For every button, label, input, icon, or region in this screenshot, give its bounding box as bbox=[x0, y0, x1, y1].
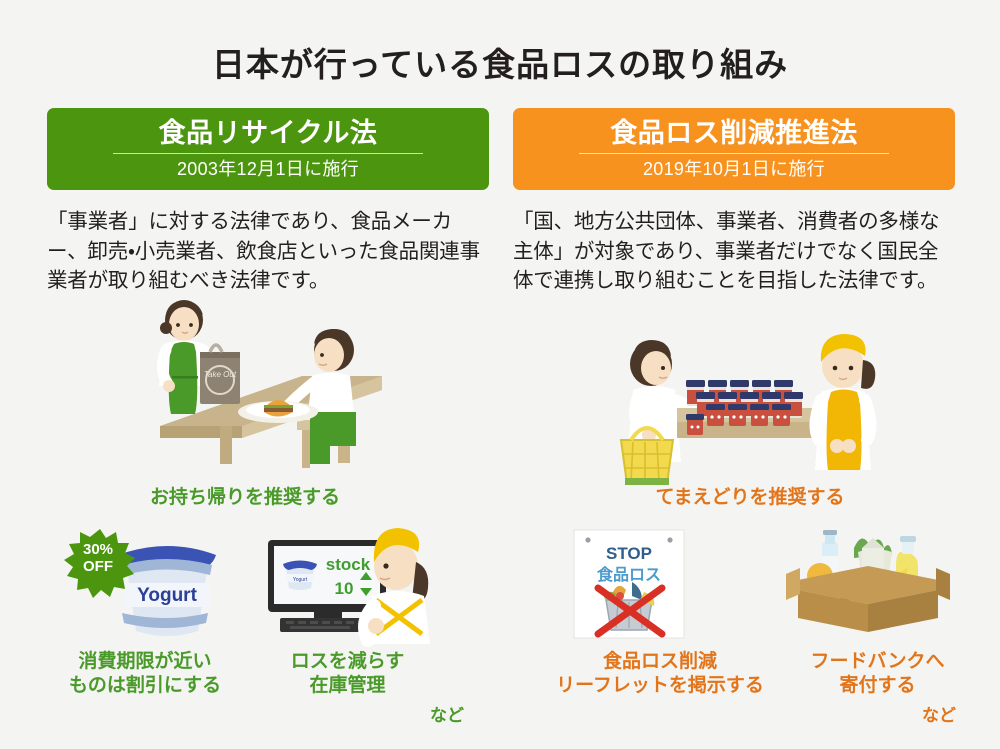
caption-leaflet-line2: リーフレットを掲示する bbox=[535, 674, 785, 698]
law-enforcement-date: 2003年12月1日に施行 bbox=[61, 159, 475, 181]
stop-poster-svg: STOP 食品ロス bbox=[568, 524, 693, 642]
stock-monitor-svg: Yogurt stock 10 bbox=[258, 522, 458, 644]
caption-stock-line2: 在庫管理 bbox=[255, 674, 440, 698]
divider bbox=[113, 153, 423, 154]
divider bbox=[579, 153, 889, 154]
law-enforcement-date: 2019年10月1日に施行 bbox=[527, 159, 941, 181]
illustration-takeout-restaurant: Take Out bbox=[142, 298, 392, 483]
illustration-stock-management: Yogurt stock 10 bbox=[258, 522, 458, 644]
caption-discount-line2: ものは割引にする bbox=[40, 674, 250, 698]
illustration-temaedori-shelf bbox=[615, 330, 905, 490]
poster-stop-label: STOP bbox=[606, 544, 652, 563]
infographic-root: 日本が行っている食品ロスの取り組み 食品リサイクル法 2003年12月1日に施行… bbox=[0, 0, 1000, 749]
page-title: 日本が行っている食品ロスの取り組み bbox=[0, 38, 1000, 86]
caption-food-bank-line1: フードバンクへ bbox=[790, 650, 965, 674]
svg-text:Yogurt: Yogurt bbox=[293, 577, 308, 583]
caption-discount-line1: 消費期限が近い bbox=[40, 650, 250, 674]
caption-food-bank: フードバンクへ 寄付する bbox=[790, 650, 965, 698]
caption-temaedori: てまえどりを推奨する bbox=[590, 486, 910, 510]
law-description: 「事業者」に対する法律であり、食品メーカー、卸売・小売業者、飲食店といった食品関… bbox=[47, 207, 489, 296]
jar-in-hand bbox=[686, 414, 704, 435]
monitor-stock-value: 10 bbox=[335, 579, 354, 598]
takeout-bag-label-line1: Take Out bbox=[204, 370, 237, 379]
customer-figure bbox=[278, 329, 356, 464]
caption-food-bank-line2: 寄付する bbox=[790, 674, 965, 698]
illustration-discount-yogurt: Yogurt 30% OFF bbox=[58, 525, 233, 640]
etc-label-right: など bbox=[922, 701, 956, 726]
discount-badge-off: OFF bbox=[83, 558, 113, 575]
illustration-stop-poster: STOP 食品ロス bbox=[568, 524, 693, 642]
caption-leaflet: 食品ロス削減 リーフレットを掲示する bbox=[535, 650, 785, 698]
temaedori-scene-svg bbox=[615, 330, 905, 490]
column-food-recycling-law: 食品リサイクル法 2003年12月1日に施行 「事業者」に対する法律であり、食品… bbox=[47, 108, 489, 296]
law-name: 食品ロス削減推進法 bbox=[527, 118, 941, 148]
poster-foodloss-label: 食品ロス bbox=[596, 565, 661, 584]
law-card-orange: 食品ロス削減推進法 2019年10月1日に施行 bbox=[513, 108, 955, 190]
discount-badge-icon: 30% OFF bbox=[64, 529, 135, 598]
food-bank-box-svg bbox=[778, 518, 958, 640]
caption-stock-management: ロスを減らす 在庫管理 bbox=[255, 650, 440, 698]
monitor-stock-label: stock bbox=[326, 555, 371, 574]
law-card-green: 食品リサイクル法 2003年12月1日に施行 bbox=[47, 108, 489, 190]
caption-takeout: お持ち帰りを推奨する bbox=[95, 486, 395, 510]
caption-discount: 消費期限が近い ものは割引にする bbox=[40, 650, 250, 698]
store-clerk-figure bbox=[815, 334, 875, 470]
caption-leaflet-line1: 食品ロス削減 bbox=[535, 650, 785, 674]
yogurt-discount-svg: Yogurt 30% OFF bbox=[58, 525, 233, 640]
etc-label-left: など bbox=[430, 701, 464, 726]
caption-stock-line1: ロスを減らす bbox=[255, 650, 440, 674]
yogurt-label: Yogurt bbox=[137, 585, 197, 606]
takeout-scene-svg: Take Out bbox=[142, 298, 392, 483]
discount-badge-percent: 30% bbox=[83, 541, 113, 558]
law-description: 「国、地方公共団体、事業者、消費者の多様な主体」が対象であり、事業者だけでなく国… bbox=[513, 207, 955, 296]
law-name: 食品リサイクル法 bbox=[61, 118, 475, 148]
column-food-loss-reduction-law: 食品ロス削減推進法 2019年10月1日に施行 「国、地方公共団体、事業者、消費… bbox=[513, 108, 955, 296]
takeout-bag-icon: Take Out bbox=[200, 345, 240, 404]
illustration-food-bank-box bbox=[778, 518, 958, 640]
